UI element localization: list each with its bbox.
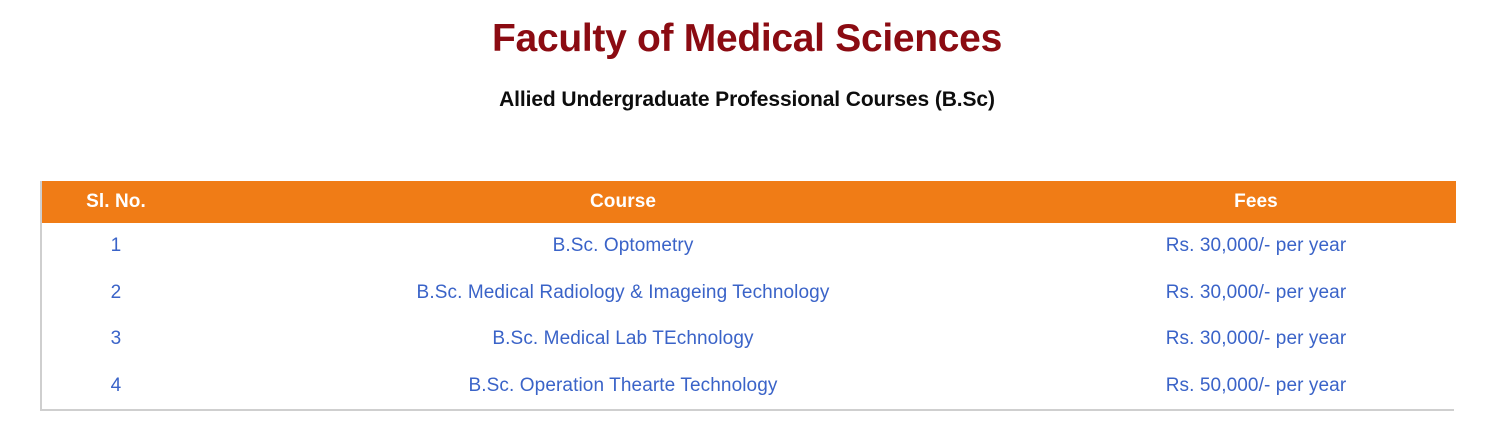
cell-sl-no: 4	[42, 363, 190, 410]
page-subtitle: Allied Undergraduate Professional Course…	[0, 58, 1494, 110]
table-row: 4 B.Sc. Operation Thearte Technology Rs.…	[42, 363, 1456, 410]
column-header-sl-no: Sl. No.	[42, 181, 190, 223]
cell-course: B.Sc. Medical Radiology & Imageing Techn…	[190, 270, 1056, 317]
cell-fees: Rs. 30,000/- per year	[1056, 223, 1456, 270]
cell-course: B.Sc. Operation Thearte Technology	[190, 363, 1056, 410]
table-row: 1 B.Sc. Optometry Rs. 30,000/- per year	[42, 223, 1456, 270]
cell-course: B.Sc. Medical Lab TEchnology	[190, 316, 1056, 363]
cell-course: B.Sc. Optometry	[190, 223, 1056, 270]
column-header-fees: Fees	[1056, 181, 1456, 223]
column-header-course: Course	[190, 181, 1056, 223]
table-header-row: Sl. No. Course Fees	[42, 181, 1456, 223]
table-row: 3 B.Sc. Medical Lab TEchnology Rs. 30,00…	[42, 316, 1456, 363]
fees-table: Sl. No. Course Fees 1 B.Sc. Optometry Rs…	[42, 181, 1456, 409]
cell-fees: Rs. 30,000/- per year	[1056, 316, 1456, 363]
page-title: Faculty of Medical Sciences	[0, 0, 1494, 58]
table-row: 2 B.Sc. Medical Radiology & Imageing Tec…	[42, 270, 1456, 317]
table-header: Sl. No. Course Fees	[42, 181, 1456, 223]
cell-sl-no: 2	[42, 270, 190, 317]
fees-table-container: Sl. No. Course Fees 1 B.Sc. Optometry Rs…	[40, 181, 1454, 411]
cell-sl-no: 3	[42, 316, 190, 363]
cell-fees: Rs. 50,000/- per year	[1056, 363, 1456, 410]
page-root: Faculty of Medical Sciences Allied Under…	[0, 0, 1494, 435]
cell-fees: Rs. 30,000/- per year	[1056, 270, 1456, 317]
table-body: 1 B.Sc. Optometry Rs. 30,000/- per year …	[42, 223, 1456, 409]
cell-sl-no: 1	[42, 223, 190, 270]
